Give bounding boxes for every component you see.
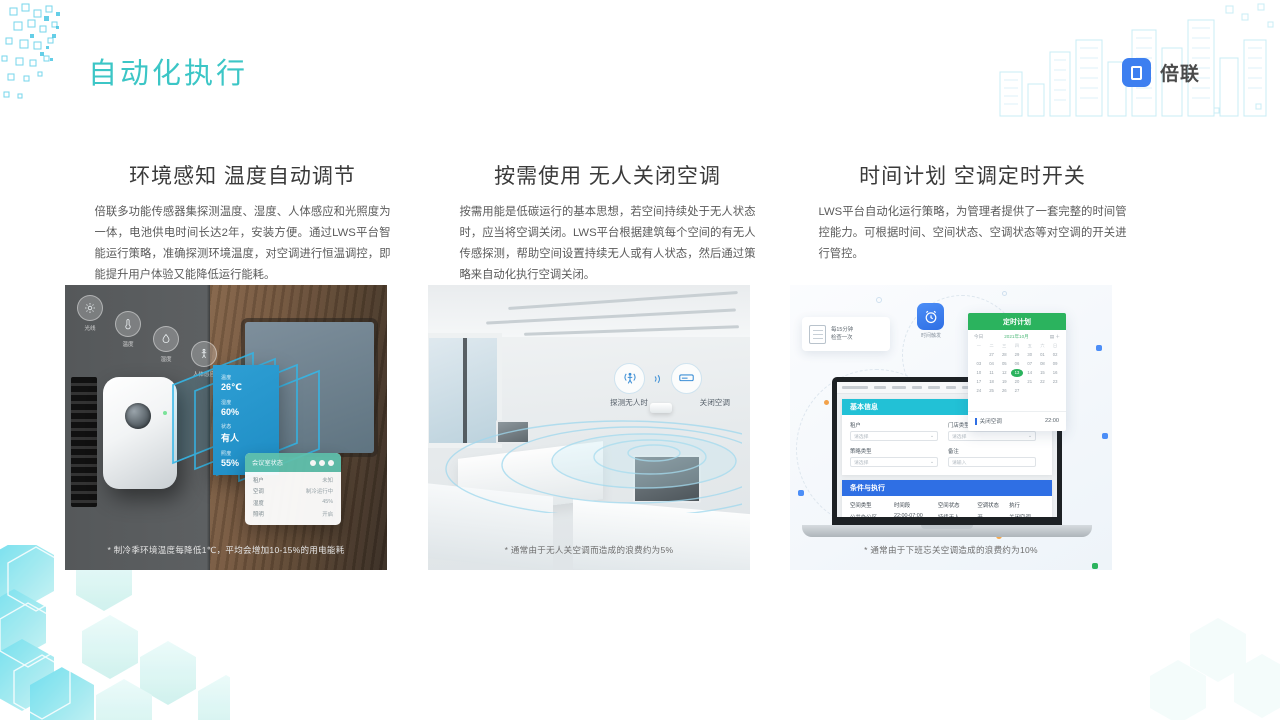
p3-note-text: 每15分钟 检查一次 [831,326,853,342]
p3-calendar-day[interactable]: 28 [998,351,1010,359]
column-2-title: 按需使用 无人关闭空调 [425,160,790,190]
p3-calendar-day[interactable]: 01 [1037,351,1049,359]
p3-th-1: 时间段 [894,501,938,513]
p3-field-strategy-type: 策略类型 请选择 ⌄ [850,447,938,467]
p1-room-card-dots-icon [310,460,334,466]
square-logo-inner [1131,66,1142,80]
feature-image-3: 每15分钟 检查一次 时间触发 基本信息 [790,285,1112,570]
checklist-icon [809,325,826,344]
p3-field-value-0: 请选择 [854,433,868,440]
p3-decor-dot [1002,291,1007,296]
p3-field-input-0[interactable]: 请选择 ⌄ [850,431,938,441]
p3-calendar-grid[interactable]: 一二三四五六日272829300102030405060708091011121… [968,342,1066,395]
p1-room-row-label-3: 照明 [253,510,264,518]
p3-field-label-2: 策略类型 [850,447,938,455]
p3-field-label-0: 租户 [850,421,938,429]
image-2-caption: * 通常由于无人关空调而造成的浪费约为5% [428,544,750,556]
p3-th-2: 空间状态 [938,501,977,513]
p3-calendar-today[interactable]: 今日 [974,334,983,340]
p3-field-value-1: 请选择 [952,433,966,440]
p3-calendar-day[interactable]: 16 [1049,369,1061,377]
temperature-icon: 温度 [115,311,141,337]
p3-calendar-day[interactable]: 23 [1049,378,1061,386]
decor-bottom-right-hexagons [1130,600,1280,720]
column-1-title: 环境感知 温度自动调节 [60,160,425,190]
p3-rule-panel: 条件与执行 空间类型 时间段 空间状态 空调状态 执行 公共办公区 22:00-… [842,480,1052,517]
p3-calendar-weekday: 六 [1037,342,1049,350]
p1-room-row-value-0: 未知 [322,476,333,484]
p1-room-row: 空调 制冷运行中 [245,484,341,496]
p3-calendar-day[interactable]: 02 [1049,351,1061,359]
column-3-title: 时间计划 空调定时开关 [790,160,1155,190]
p3-action-wrap: 关闭空调 [975,417,1002,425]
p1-room-row-label-0: 租户 [253,476,264,484]
p3-calendar-weekday: 五 [1024,342,1036,350]
p3-note-line-1: 每15分钟 [831,326,853,334]
p1-card-value-0: 26℃ [221,382,271,393]
p3-action-bar [975,418,977,425]
column-2-body: 按需用能是低碳运行的基本思想，若空间持续处于无人状态时，应当将空调关闭。LWS平… [458,202,758,286]
p3-calendar-month[interactable]: 2021年10月 [1004,334,1029,340]
p3-calendar-day[interactable]: 26 [998,387,1010,395]
p3-calendar-day[interactable]: 17 [973,378,985,386]
p3-field-value-2: 请选择 [854,459,868,466]
p3-calendar-day[interactable]: 25 [986,387,998,395]
p3-th-4: 执行 [1009,501,1044,513]
p3-calendar-toolbar: 今日 2021年10月 ▤ ＋ [968,330,1066,342]
p1-sensor-lens [125,403,151,429]
p1-vent-grille [71,377,97,507]
p3-calendar-day[interactable]: 27 [1011,387,1023,395]
p1-room-row-label-1: 空调 [253,487,264,495]
p1-card-label-0: 温度 [221,374,271,381]
p3-calendar-day[interactable]: 07 [1024,360,1036,368]
p3-laptop-base [802,525,1092,537]
p3-field-input-3[interactable]: 请输入 [948,457,1036,467]
p3-calendar-day[interactable]: 19 [998,378,1010,386]
p3-td-3: 开 [977,513,1009,517]
feature-column-1: 环境感知 温度自动调节 倍联多功能传感器集探测温度、湿度、人体感应和光照度为一体… [60,160,425,286]
p2-label-turnoff: 关闭空调 [700,397,730,408]
square-logo-icon [1122,58,1151,87]
p3-calendar-day [1037,387,1049,395]
p3-decor-dot [876,297,882,303]
p3-field-input-1[interactable]: 请选择 ⌄ [948,431,1036,441]
p3-calendar-day[interactable]: 27 [986,351,998,359]
signal-arrow-icon [651,373,665,385]
chevron-down-icon: ⌄ [930,460,934,465]
p3-calendar-day [1049,387,1061,395]
air-conditioner-icon [671,363,702,394]
light-icon-label: 光线 [84,324,95,332]
p3-calendar-day[interactable]: 06 [1011,360,1023,368]
p3-calendar-day[interactable]: 29 [1011,351,1023,359]
p1-card-label-1: 湿度 [221,399,271,406]
p3-calendar-day[interactable]: 13 [1011,369,1023,377]
image-1-caption: * 制冷季环境温度每降低1℃，平均会增加10-15%的用电能耗 [65,544,387,556]
p1-room-row: 租户 未知 [245,472,341,484]
temperature-icon-label: 温度 [122,340,133,348]
p3-calendar-day[interactable]: 09 [1049,360,1061,368]
p3-calendar-day[interactable]: 24 [973,387,985,395]
p3-decor-square [798,490,804,496]
p3-calendar-weekday: 三 [998,342,1010,350]
p3-td-4: 关闭空调 [1009,513,1044,517]
chevron-down-icon: ⌄ [1028,434,1032,439]
p1-card-value-1: 60% [221,407,271,417]
column-1-body: 倍联多功能传感器集探测温度、湿度、人体感应和光照度为一体，电池供电时间长达2年，… [93,202,393,286]
p2-flow-labels: 探测无人时 关闭空调 [610,397,730,408]
p1-card-value-2: 有人 [221,431,271,444]
p1-room-row-value-1: 制冷运行中 [306,487,333,495]
slide-header: 自动化执行 倍联 [0,0,1280,128]
p3-calendar-weekday: 二 [986,342,998,350]
page-title: 自动化执行 [88,50,248,92]
p3-calendar-day[interactable]: 22 [1037,378,1049,386]
p3-decor-square [1102,433,1108,439]
p3-td-0: 公共办公区 [850,513,894,517]
p3-schedule-panel: 定时计划 今日 2021年10月 ▤ ＋ 一二三四五六日272829300102… [968,313,1066,431]
p1-room-status-card: 会议室状态 租户 未知 空调 制冷运行中 湿度 45% 照明 开启 [245,453,341,525]
p3-rule-table: 空间类型 时间段 空间状态 空调状态 执行 公共办公区 22:00-07:00 … [842,496,1052,517]
brand-name: 倍联 [1160,59,1200,86]
p3-calendar-day[interactable]: 08 [1037,360,1049,368]
feature-columns: 环境感知 温度自动调节 倍联多功能传感器集探测温度、湿度、人体感应和光照度为一体… [0,160,1280,286]
p3-schedule-title: 定时计划 [968,313,1066,330]
p3-calendar-day[interactable]: 14 [1024,369,1036,377]
p3-calendar-day[interactable]: 15 [1037,369,1049,377]
p2-flow-badges [614,363,702,394]
feature-column-3: 时间计划 空调定时开关 LWS平台自动化运行策略，为管理者提供了一套完整的时间管… [790,160,1155,286]
p3-calendar-weekday: 一 [973,342,985,350]
alarm-clock-icon [917,303,944,330]
p3-schedule-action[interactable]: 关闭空调 22:00 [968,411,1066,425]
p3-calendar-day[interactable]: 05 [998,360,1010,368]
decor-bottom-left-hexagons [0,545,230,720]
feature-image-1: 光线 温度 湿度 人体感应 [65,285,387,570]
p1-room-row: 照明 开启 [245,507,341,519]
p3-field-value-3: 请输入 [952,459,966,466]
p3-th-3: 空调状态 [977,501,1009,513]
p3-table-header-row: 空间类型 时间段 空间状态 空调状态 执行 [850,501,1044,513]
p3-field-remark: 备注 请输入 [948,447,1036,467]
p3-calendar-actions[interactable]: ▤ ＋ [1050,334,1060,340]
p3-calendar-day [973,351,985,359]
p3-td-1: 22:00-07:00 [894,513,938,517]
p3-th-0: 空间类型 [850,501,894,513]
p3-check-interval-note: 每15分钟 检查一次 [802,317,890,351]
chevron-down-icon: ⌄ [930,434,934,439]
table-row[interactable]: 公共办公区 22:00-07:00 持续无人 开 关闭空调 [850,513,1044,517]
p2-label-detect: 探测无人时 [610,397,648,408]
p1-room-card-title: 会议室状态 [252,458,283,467]
p3-trigger-label: 时间触发 [908,332,954,339]
p1-room-row: 湿度 45% [245,495,341,507]
p3-field-label-3: 备注 [948,447,1036,455]
person-detect-icon [614,363,645,394]
p1-room-row-value-3: 开启 [322,510,333,518]
p3-calendar-day[interactable]: 18 [986,378,998,386]
p2-coverage-waves [436,403,742,513]
p3-note-line-2: 检查一次 [831,334,853,342]
p3-calendar-weekday: 四 [1011,342,1023,350]
slide-root: 自动化执行 倍联 环境感知 温度自动调节 倍联多功能传感器集探测温度、湿度、人体… [0,0,1280,720]
feature-image-2: 探测无人时 关闭空调 * 通常由于无人关空调而造成的浪费约为5% [428,285,750,570]
p3-decor-square [1092,563,1098,569]
p3-calendar-day [1024,387,1036,395]
p3-calendar-day[interactable]: 11 [986,369,998,377]
light-icon: 光线 [77,295,103,321]
p3-action-label: 关闭空调 [980,417,1002,425]
p3-calendar-weekday: 日 [1049,342,1061,350]
p3-calendar-day[interactable]: 10 [973,369,985,377]
p3-calendar-day[interactable]: 20 [1011,378,1023,386]
p3-calendar-day[interactable]: 12 [998,369,1010,377]
p3-calendar-day[interactable]: 30 [1024,351,1036,359]
p3-field-tenant: 租户 请选择 ⌄ [850,421,938,441]
p3-rule-title: 条件与执行 [842,480,1052,496]
p3-decor-dot [824,400,829,405]
p1-room-row-value-2: 45% [322,499,333,507]
p3-calendar-day[interactable]: 21 [1024,378,1036,386]
p3-action-time: 22:00 [1045,418,1059,424]
p3-calendar-day[interactable]: 03 [973,360,985,368]
p3-decor-square [1096,345,1102,351]
p3-calendar-day[interactable]: 04 [986,360,998,368]
brand-logo: 倍联 [1122,58,1200,87]
column-3-body: LWS平台自动化运行策略，为管理者提供了一套完整的时间管控能力。可根据时间、空间… [817,202,1129,265]
p1-room-row-label-2: 湿度 [253,499,264,507]
p3-field-input-2[interactable]: 请选择 ⌄ [850,457,938,467]
p3-td-2: 持续无人 [938,513,977,517]
image-3-caption: * 通常由于下班忘关空调造成的浪费约为10% [790,544,1112,556]
p1-card-label-2: 状态 [221,423,271,430]
feature-column-2: 按需使用 无人关闭空调 按需用能是低碳运行的基本思想，若空间持续处于无人状态时，… [425,160,790,286]
p1-room-card-header: 会议室状态 [245,453,341,472]
